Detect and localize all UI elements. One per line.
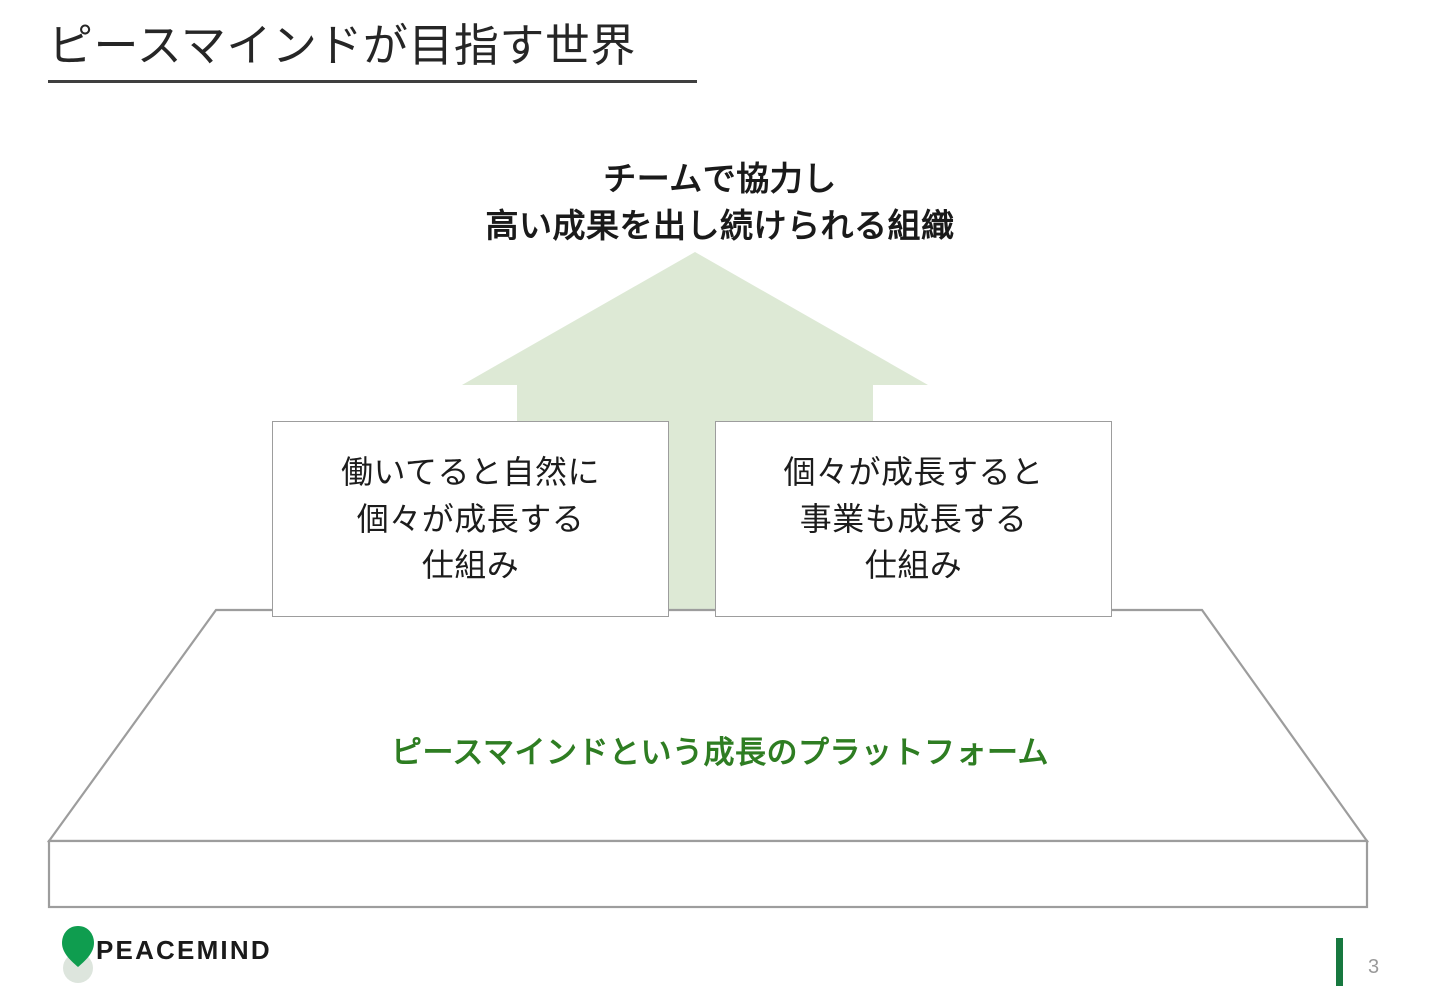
page-accent-bar bbox=[1336, 938, 1343, 986]
slide-canvas: ピースマインドが目指す世界 チームで協力し 高い成果を出し続けられる組織 ピース… bbox=[0, 0, 1440, 1001]
goal-line-1: チームで協力し bbox=[0, 156, 1440, 203]
platform-label: ピースマインドという成長のプラットフォーム bbox=[0, 727, 1440, 772]
mechanism-right-line-1: 個々が成長すると bbox=[783, 449, 1043, 495]
mechanism-box-individual-growth: 働いてると自然に 個々が成長する 仕組み bbox=[272, 421, 669, 617]
logo-wordmark: PEACEMIND bbox=[96, 935, 272, 966]
platform-front-face bbox=[49, 841, 1367, 907]
mechanism-box-business-growth: 個々が成長すると 事業も成長する 仕組み bbox=[715, 421, 1112, 617]
mechanism-right-line-3: 仕組み bbox=[783, 542, 1043, 588]
goal-statement: チームで協力し 高い成果を出し続けられる組織 bbox=[0, 156, 1440, 250]
mechanism-left-line-2: 個々が成長する bbox=[341, 496, 600, 542]
mechanism-right-line-2: 事業も成長する bbox=[783, 496, 1043, 542]
page-title: ピースマインドが目指す世界 bbox=[48, 18, 636, 74]
platform-top-face bbox=[49, 610, 1367, 841]
goal-line-2: 高い成果を出し続けられる組織 bbox=[0, 203, 1440, 250]
mechanism-left-line-1: 働いてると自然に bbox=[341, 449, 600, 495]
page-number: 3 bbox=[1368, 956, 1379, 979]
title-underline bbox=[48, 80, 697, 83]
mechanism-left-line-3: 仕組み bbox=[341, 542, 600, 588]
